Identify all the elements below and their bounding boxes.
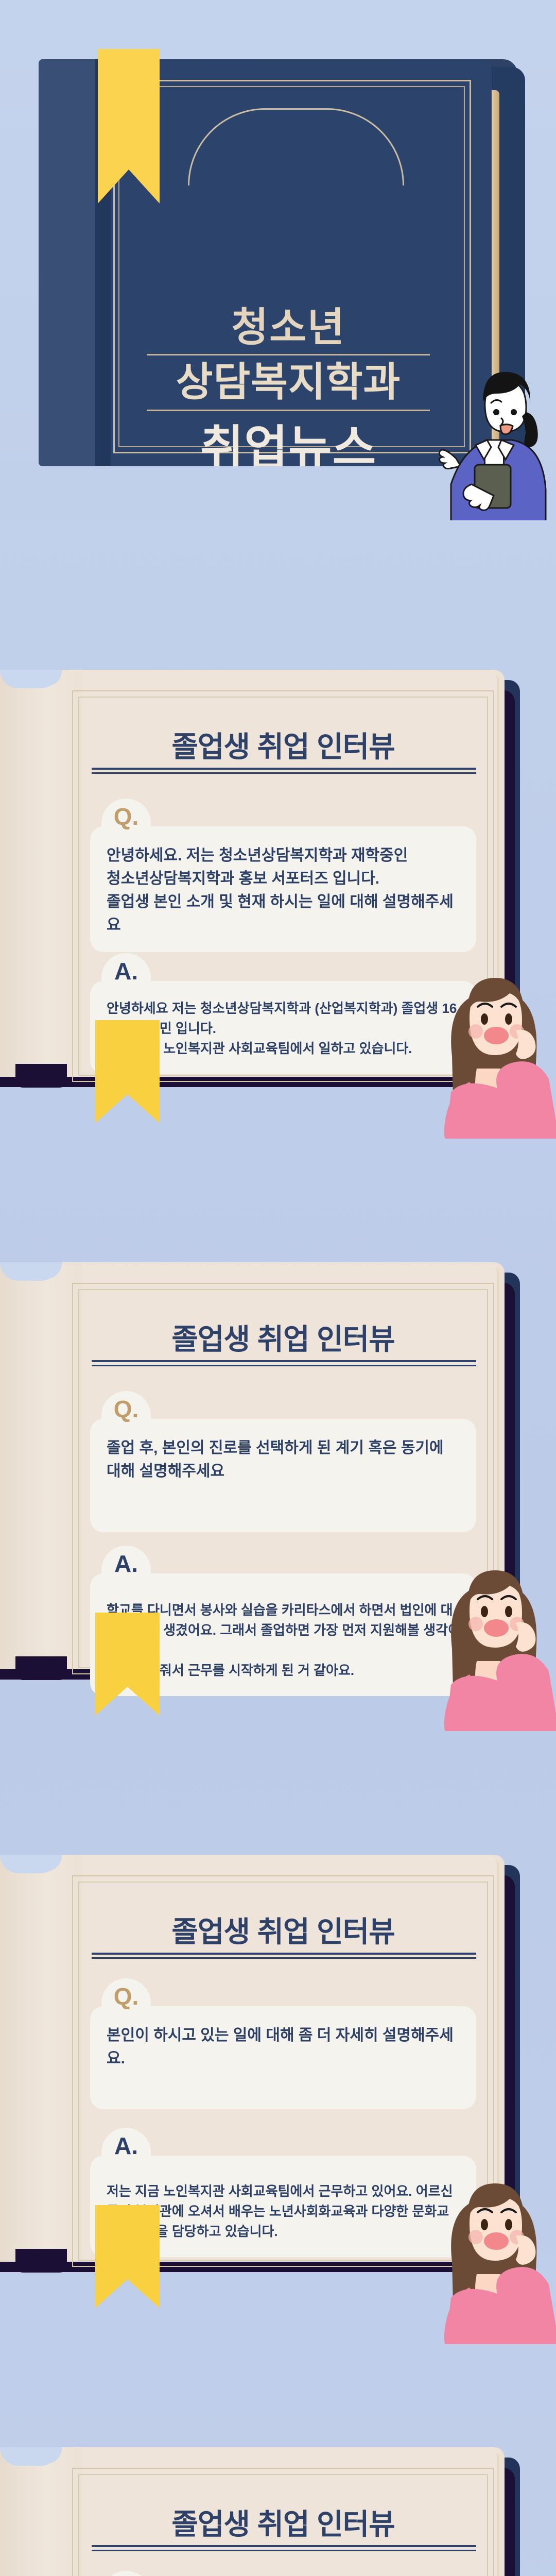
title-divider	[92, 768, 476, 774]
cover-title-line1: 청소년	[116, 307, 461, 349]
question-badge: Q.	[101, 2571, 151, 2576]
cover-divider-bottom	[147, 410, 430, 411]
question-label: Q.	[114, 1398, 139, 1421]
page-title: 졸업생 취업 인터뷰	[88, 1316, 479, 1358]
bookmark-ribbon-icon	[95, 1020, 160, 1123]
interview-page-2: 졸업생 취업 인터뷰 Q. 졸업 후, 본인의 진로를 선택하게 된 계기 혹은…	[0, 1113, 556, 1705]
listener-woman-illustration	[420, 1546, 556, 1731]
cover-title-line3: 취업뉴스	[116, 422, 461, 466]
question-block: Q. 안녕하세요. 저는 청소년상담복지학과 재학중인 청소년상담복지학과 홍보…	[90, 799, 476, 952]
question-badge: Q.	[101, 1978, 151, 2008]
listener-woman-illustration	[420, 953, 556, 1139]
cover-hero: 청소년 상담복지학과 취업뉴스 사회복지사-노인복지분야	[0, 0, 556, 520]
cover-title-group: 청소년 상담복지학과 취업뉴스 사회복지사-노인복지분야	[116, 307, 461, 466]
page-title: 졸업생 취업 인터뷰	[88, 2501, 479, 2543]
page-gutter	[0, 670, 82, 1077]
page-gutter	[0, 2447, 82, 2576]
interview-page-3: 졸업생 취업 인터뷰 Q. 본인이 하시고 있는 일에 대해 좀 더 자세히 설…	[0, 1705, 556, 2298]
page-gutter	[0, 1262, 82, 1669]
title-divider	[92, 1360, 476, 1366]
bookmark-ribbon-icon	[95, 1613, 160, 1716]
page-gutter	[0, 1855, 82, 2262]
question-badge: Q.	[101, 1391, 151, 1421]
presenter-woman-illustration	[436, 330, 554, 520]
question-block: Q. 졸업 후, 본인의 진로를 선택하게 된 계기 혹은 동기에 대해 설명해…	[90, 1391, 476, 1532]
interview-page-1: 졸업생 취업 인터뷰 Q. 안녕하세요. 저는 청소년상담복지학과 재학중인 청…	[0, 520, 556, 1113]
question-label: Q.	[114, 806, 139, 828]
answer-label: A.	[114, 1553, 138, 1575]
question-label: Q.	[114, 1986, 139, 2008]
page-title: 졸업생 취업 인터뷰	[88, 1909, 479, 1951]
page-bottom-notch	[15, 1656, 67, 1680]
page-bottom-notch	[15, 1064, 67, 1088]
question-text: 안녕하세요. 저는 청소년상담복지학과 재학중인 청소년상담복지학과 홍보 서포…	[90, 826, 476, 952]
cover-title-line2: 상담복지학과	[116, 360, 461, 404]
page-title: 졸업생 취업 인터뷰	[88, 724, 479, 766]
answer-label: A.	[114, 960, 138, 983]
question-badge: Q.	[101, 799, 151, 828]
answer-badge: A.	[101, 2128, 151, 2158]
listener-woman-illustration	[420, 2159, 556, 2344]
title-divider	[92, 2545, 476, 2551]
cover-divider-top	[147, 354, 430, 355]
title-divider	[92, 1953, 476, 1959]
question-text: 본인이 하시고 있는 일에 대해 좀 더 자세히 설명해주세요.	[90, 2006, 476, 2109]
answer-badge: A.	[101, 953, 151, 983]
answer-badge: A.	[101, 1546, 151, 1575]
answer-label: A.	[114, 2135, 138, 2158]
book-spine	[39, 59, 95, 466]
question-text: 졸업 후, 본인의 진로를 선택하게 된 계기 혹은 동기에 대해 설명해주세요	[90, 1419, 476, 1532]
question-block: Q. 그 직업을 하면서 보람찬 경험이나 기억에 남는 에피소드가 있나요?	[90, 2571, 476, 2576]
page-bottom-notch	[15, 2249, 67, 2273]
bookmark-ribbon-icon	[95, 2205, 160, 2308]
question-block: Q. 본인이 하시고 있는 일에 대해 좀 더 자세히 설명해주세요.	[90, 1978, 476, 2109]
